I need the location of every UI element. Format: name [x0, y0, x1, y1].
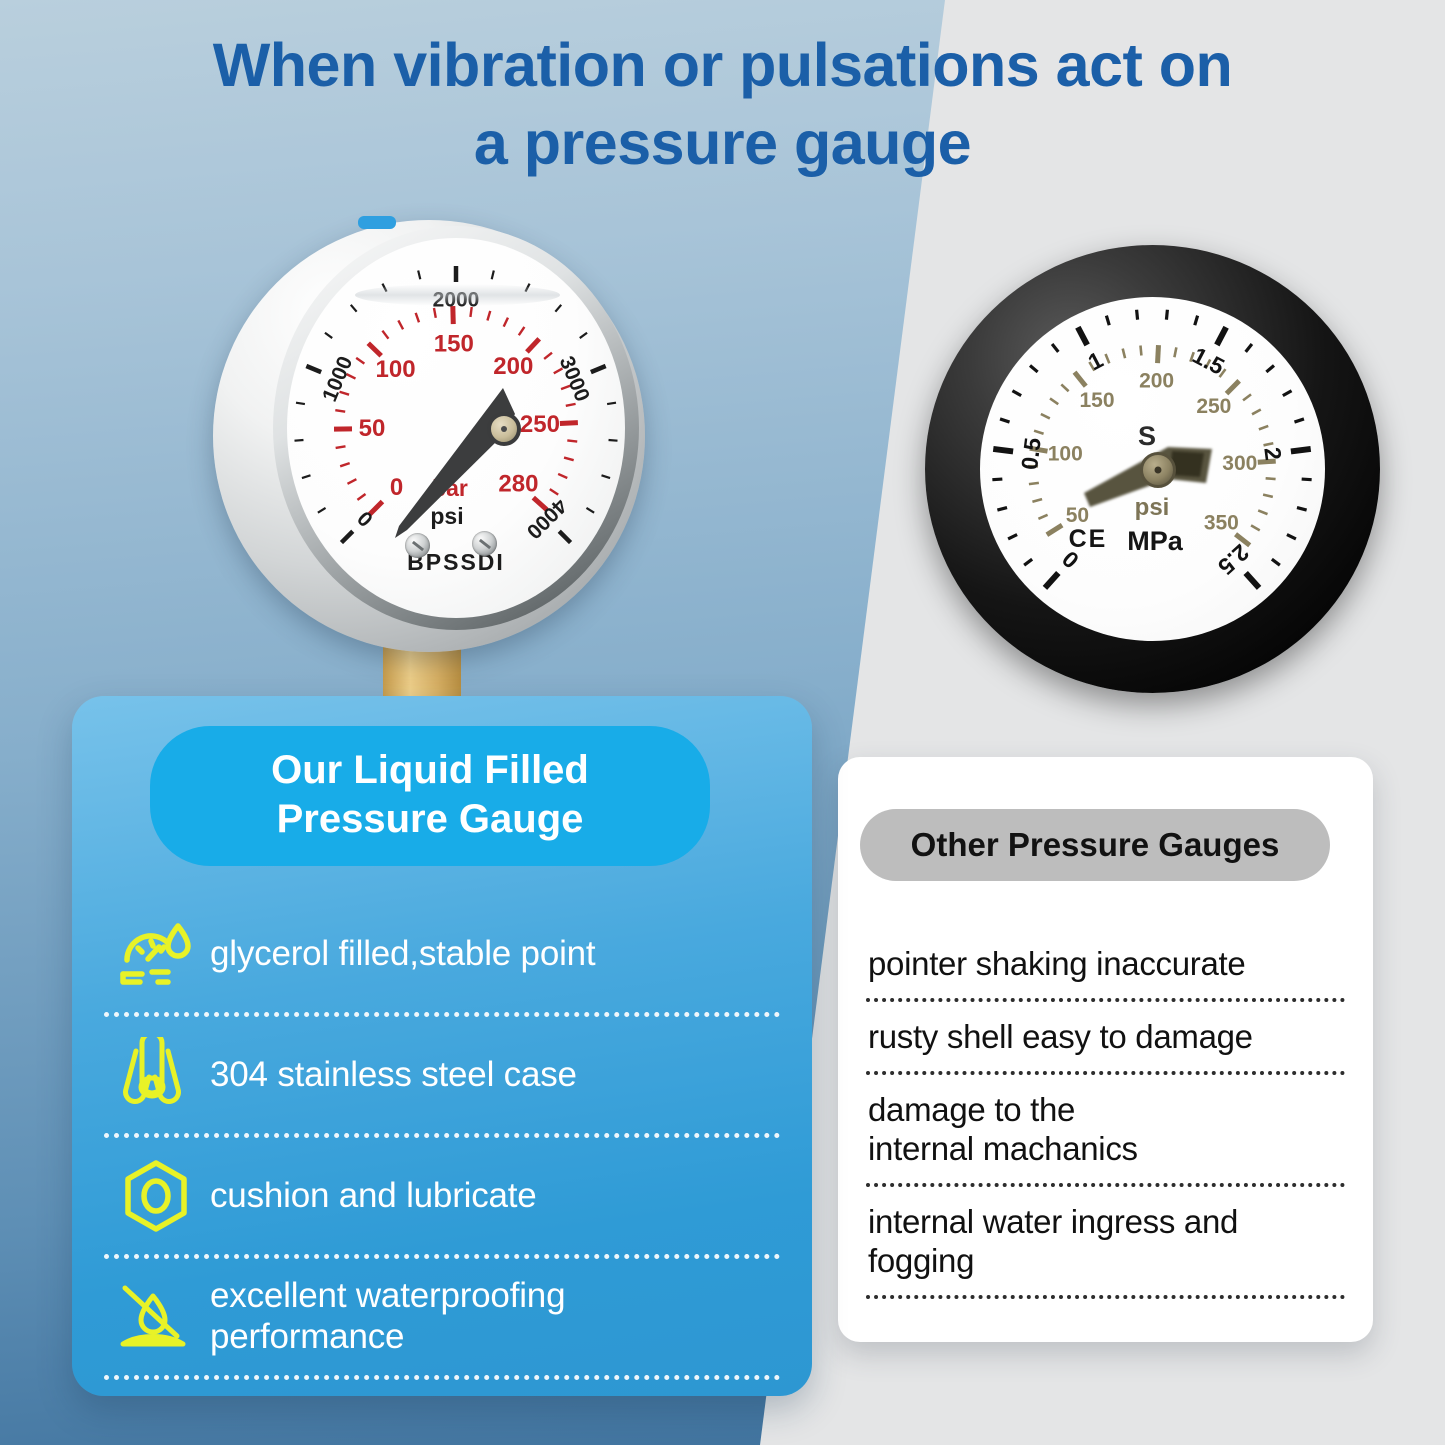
gauge-face-screw-left: [405, 533, 430, 558]
gauge-face-screw-right: [472, 531, 497, 556]
our-gauge-heading-pill: Our Liquid Filled Pressure Gauge: [150, 726, 710, 866]
other-gauges-heading-pill: Other Pressure Gauges: [860, 809, 1330, 881]
svg-text:150: 150: [434, 331, 474, 358]
svg-text:50: 50: [359, 415, 386, 442]
svg-text:psi: psi: [430, 503, 463, 529]
gauge-blue-vent-plug: [358, 216, 396, 229]
our-gauge-heading-line-1: Our Liquid Filled: [180, 746, 680, 795]
other-gauges-heading: Other Pressure Gauges: [911, 826, 1280, 863]
svg-text:350: 350: [1204, 512, 1239, 535]
feature-label-glycerol: glycerol filled,stable point: [202, 934, 595, 975]
svg-text:50: 50: [1066, 504, 1089, 527]
feature-row-waterproof: excellent waterproofingperformance: [72, 1259, 812, 1375]
steel-tubes-icon: [110, 1037, 202, 1113]
feature-row-cushion: cushion and lubricate: [72, 1138, 812, 1254]
svg-text:100: 100: [1048, 443, 1083, 466]
gauge-liquid-level-line: [355, 284, 560, 306]
svg-text:3000: 3000: [555, 353, 594, 405]
svg-text:280: 280: [498, 471, 538, 498]
other-gauges-list: pointer shaking inaccurate rusty shell e…: [838, 929, 1373, 1299]
svg-text:2: 2: [1259, 446, 1286, 462]
other-gauge-image: 00.511.522.5 50100150200250300350SpsiMPa…: [925, 245, 1395, 705]
svg-text:0: 0: [390, 474, 403, 501]
page-title-line-1: When vibration or pulsations act on: [213, 31, 1233, 99]
no-water-drop-icon: [110, 1280, 202, 1354]
svg-text:250: 250: [520, 411, 560, 438]
svg-text:CE: CE: [1069, 525, 1108, 553]
feature-row-stainless: 304 stainless steel case: [72, 1017, 812, 1133]
our-gauge-feature-card: Our Liquid Filled Pressure Gauge glycero…: [72, 696, 812, 1396]
feature-label-waterproof: excellent waterproofingperformance: [202, 1276, 565, 1357]
svg-text:300: 300: [1222, 452, 1257, 475]
other-gauge-needle-hub: [1140, 452, 1176, 488]
svg-text:MPa: MPa: [1127, 526, 1184, 556]
feature-separator-4: [104, 1375, 780, 1380]
svg-text:250: 250: [1196, 395, 1231, 418]
svg-text:150: 150: [1079, 389, 1114, 412]
other-gauge-item-3: damage to theinternal machanics: [864, 1075, 1347, 1183]
gauge-droplet-icon: [110, 918, 202, 990]
feature-label-stainless: 304 stainless steel case: [202, 1055, 577, 1096]
other-gauge-dial-face: 00.511.522.5 50100150200250300350SpsiMPa…: [980, 297, 1325, 641]
gauge-dial-face: 01000200030004000 050100150200250280BPSS…: [287, 238, 625, 618]
svg-text:1: 1: [1084, 346, 1108, 375]
feature-row-glycerol: glycerol filled,stable point: [72, 896, 812, 1012]
liquid-filled-gauge-image: 01000200030004000 050100150200250280BPSS…: [205, 212, 665, 712]
other-gauge-item-1: pointer shaking inaccurate: [864, 929, 1347, 998]
our-gauge-feature-list: glycerol filled,stable point 304 stainle…: [72, 896, 812, 1380]
svg-text:1000: 1000: [318, 353, 357, 405]
other-gauge-item-4: internal water ingress andfogging: [864, 1187, 1347, 1295]
hex-nut-icon: [110, 1158, 202, 1234]
other-gauge-item-2: rusty shell easy to damage: [864, 1002, 1347, 1071]
svg-text:psi: psi: [1135, 494, 1170, 521]
svg-text:0.5: 0.5: [1016, 436, 1046, 471]
our-gauge-heading-line-2: Pressure Gauge: [180, 795, 680, 844]
other-gauge-separator-4: [866, 1295, 1345, 1299]
page-title-line-2: a pressure gauge: [0, 104, 1445, 182]
svg-text:S: S: [1138, 421, 1156, 451]
svg-text:200: 200: [493, 353, 533, 380]
svg-text:200: 200: [1139, 370, 1174, 393]
svg-text:100: 100: [376, 356, 416, 383]
feature-label-cushion: cushion and lubricate: [202, 1176, 537, 1217]
page-title: When vibration or pulsations act on a pr…: [0, 26, 1445, 182]
other-gauges-card: Other Pressure Gauges pointer shaking in…: [838, 757, 1373, 1342]
gauge-needle-hub: [487, 412, 521, 446]
